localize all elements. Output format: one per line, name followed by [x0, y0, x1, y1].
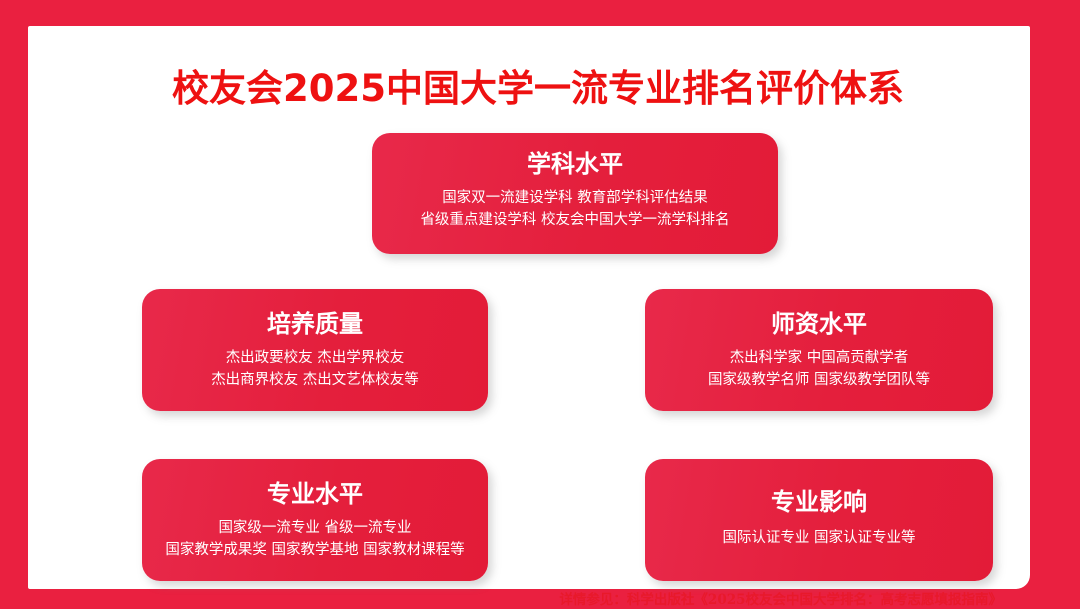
card-peiyang-zhiliang: 培养质量 杰出政要校友 杰出学界校友 杰出商界校友 杰出文艺体校友等 [142, 289, 488, 411]
card-title: 师资水平 [645, 309, 993, 339]
card-xueke-shuiping: 学科水平 国家双一流建设学科 教育部学科评估结果 省级重点建设学科 校友会中国大… [372, 133, 778, 254]
card-line: 国际认证专业 国家认证专业等 [645, 527, 993, 549]
card-title: 培养质量 [142, 309, 488, 339]
card-lines: 国家级一流专业 省级一流专业 国家教学成果奖 国家教学基地 国家教材课程等 [142, 517, 488, 561]
content-panel: 校友会2025中国大学一流专业排名评价体系 学科水平 国家双一流建设学科 教育部… [28, 26, 1030, 589]
card-zhuanye-yingxiang: 专业影响 国际认证专业 国家认证专业等 [645, 459, 993, 581]
card-shizi-shuiping: 师资水平 杰出科学家 中国高贡献学者 国家级教学名师 国家级教学团队等 [645, 289, 993, 411]
card-title: 专业影响 [645, 487, 993, 517]
card-title: 学科水平 [372, 149, 778, 179]
card-lines: 杰出政要校友 杰出学界校友 杰出商界校友 杰出文艺体校友等 [142, 347, 488, 391]
footer-source-note: 详情参见：科学出版社《2025校友会中国大学排名：高考志愿填报指南》 [28, 591, 1030, 609]
card-lines: 国际认证专业 国家认证专业等 [645, 527, 993, 549]
card-lines: 国家双一流建设学科 教育部学科评估结果 省级重点建设学科 校友会中国大学一流学科… [372, 187, 778, 231]
card-line: 国家级一流专业 省级一流专业 [142, 517, 488, 539]
card-line: 省级重点建设学科 校友会中国大学一流学科排名 [372, 209, 778, 231]
card-line: 杰出商界校友 杰出文艺体校友等 [142, 369, 488, 391]
card-line: 杰出政要校友 杰出学界校友 [142, 347, 488, 369]
card-title: 专业水平 [142, 479, 488, 509]
card-line: 国家级教学名师 国家级教学团队等 [645, 369, 993, 391]
red-border-frame: 校友会2025中国大学一流专业排名评价体系 学科水平 国家双一流建设学科 教育部… [0, 0, 1080, 609]
card-zhuanye-shuiping: 专业水平 国家级一流专业 省级一流专业 国家教学成果奖 国家教学基地 国家教材课… [142, 459, 488, 581]
page-title: 校友会2025中国大学一流专业排名评价体系 [172, 66, 904, 112]
card-line: 杰出科学家 中国高贡献学者 [645, 347, 993, 369]
card-line: 国家教学成果奖 国家教学基地 国家教材课程等 [142, 539, 488, 561]
card-lines: 杰出科学家 中国高贡献学者 国家级教学名师 国家级教学团队等 [645, 347, 993, 391]
card-line: 国家双一流建设学科 教育部学科评估结果 [372, 187, 778, 209]
